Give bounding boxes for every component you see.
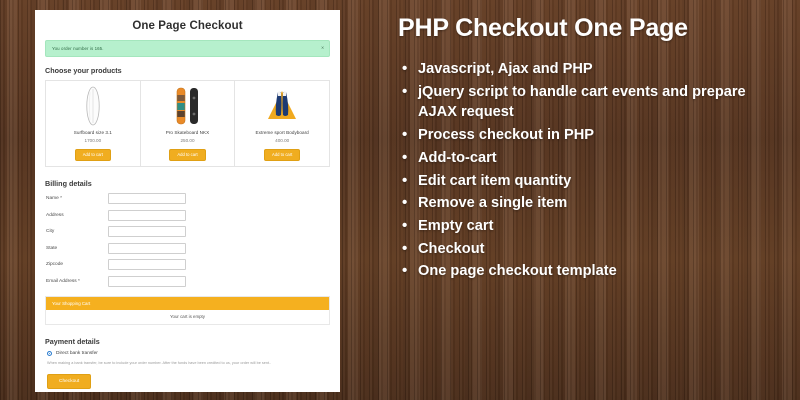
- email-input[interactable]: [108, 276, 186, 287]
- list-item: Process checkout in PHP: [398, 125, 786, 146]
- shopping-cart-empty-message: Your cart is empty: [46, 310, 329, 324]
- product-list: Surfboard size 3.1 1700.00 Add to cart: [45, 80, 330, 167]
- product-price: 400.00: [237, 138, 327, 143]
- form-row-zipcode: Zipcode: [44, 259, 331, 270]
- shopping-cart-header: Your Shopping Cart: [46, 297, 329, 310]
- surfboard-icon: [85, 86, 101, 126]
- form-row-email: Email Address *: [44, 276, 331, 287]
- address-label: Address: [46, 213, 108, 218]
- list-item: One page checkout template: [398, 261, 786, 282]
- form-row-city: City: [44, 226, 331, 237]
- promo-feature-list: Javascript, Ajax and PHP jQuery script t…: [398, 59, 786, 282]
- name-label: Name *: [46, 196, 108, 201]
- product-name: Extreme sport Bodyboard: [237, 130, 327, 135]
- payment-section-title: Payment details: [45, 337, 331, 346]
- city-input[interactable]: [108, 226, 186, 237]
- bodyboard-fins-image: [237, 85, 327, 127]
- payment-option-label: Direct bank transfer: [56, 351, 98, 356]
- product-price: 1700.00: [48, 138, 138, 143]
- promo-title: PHP Checkout One Page: [398, 14, 786, 43]
- product-card[interactable]: Pro Skateboard NKX 250.00 Add to cart: [141, 81, 236, 166]
- form-row-address: Address: [44, 210, 331, 221]
- skateboard-icon: [174, 86, 202, 126]
- order-alert: You order number is 165. ×: [45, 40, 330, 57]
- swim-fins-icon: [263, 89, 301, 123]
- list-item: Add-to-cart: [398, 148, 786, 169]
- state-label: State: [46, 246, 108, 251]
- list-item: Javascript, Ajax and PHP: [398, 59, 786, 80]
- state-input[interactable]: [108, 243, 186, 254]
- billing-section-title: Billing details: [45, 179, 331, 188]
- checkout-button[interactable]: Checkout: [47, 374, 91, 389]
- address-input[interactable]: [108, 210, 186, 221]
- skateboard-image: [143, 85, 233, 127]
- payment-description: When making a bank transfer, be sure to …: [47, 361, 325, 367]
- shopping-cart: Your Shopping Cart Your cart is empty: [45, 296, 330, 325]
- order-alert-message: You order number is 165.: [46, 46, 104, 51]
- billing-form: Name * Address City State Zipcode Email …: [44, 193, 331, 287]
- products-section-title: Choose your products: [45, 66, 331, 75]
- email-label: Email Address *: [46, 279, 108, 284]
- product-card[interactable]: Surfboard size 3.1 1700.00 Add to cart: [46, 81, 141, 166]
- add-to-cart-button[interactable]: Add to cart: [75, 149, 111, 161]
- list-item: jQuery script to handle cart events and …: [398, 82, 786, 123]
- name-input[interactable]: [108, 193, 186, 204]
- product-card[interactable]: Extreme sport Bodyboard 400.00 Add to ca…: [235, 81, 329, 166]
- close-icon[interactable]: ×: [321, 46, 324, 51]
- city-label: City: [46, 229, 108, 234]
- page-title: One Page Checkout: [44, 20, 331, 32]
- checkout-page-card: One Page Checkout You order number is 16…: [35, 10, 340, 392]
- product-name: Surfboard size 3.1: [48, 130, 138, 135]
- product-price: 250.00: [143, 138, 233, 143]
- promo-panel: PHP Checkout One Page Javascript, Ajax a…: [398, 0, 800, 400]
- zipcode-label: Zipcode: [46, 262, 108, 267]
- surfboard-image: [48, 85, 138, 127]
- list-item: Checkout: [398, 239, 786, 260]
- add-to-cart-button[interactable]: Add to cart: [264, 149, 300, 161]
- form-row-state: State: [44, 243, 331, 254]
- form-row-name: Name *: [44, 193, 331, 204]
- radio-selected-icon[interactable]: [47, 351, 52, 356]
- list-item: Edit cart item quantity: [398, 171, 786, 192]
- zipcode-input[interactable]: [108, 259, 186, 270]
- payment-option-bank-transfer[interactable]: Direct bank transfer: [47, 351, 331, 356]
- add-to-cart-button[interactable]: Add to cart: [169, 149, 205, 161]
- list-item: Remove a single item: [398, 193, 786, 214]
- product-name: Pro Skateboard NKX: [143, 130, 233, 135]
- list-item: Empty cart: [398, 216, 786, 237]
